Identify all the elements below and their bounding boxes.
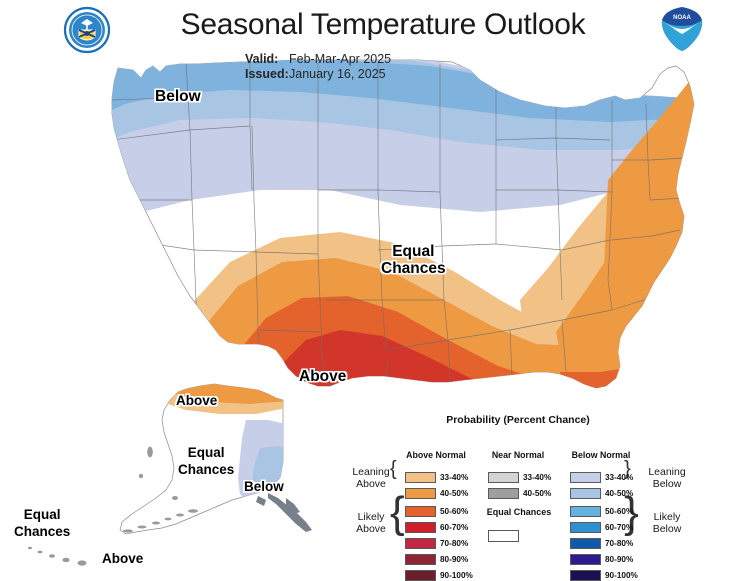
legend-label-above-40-50: 40-50% [440,488,468,499]
legend-swatch-above-50-60 [405,506,436,517]
legend-label-below-60-70: 60-70% [605,522,633,533]
legend-title: Probability (Percent Chance) [418,414,618,426]
legend-label-below-40-50: 40-50% [605,488,633,499]
legend-label-above-33-40: 33-40% [440,472,468,483]
svg-text:NOAA: NOAA [673,15,691,21]
legend-label-below-70-80: 70-80% [605,538,633,549]
legend-swatch-above-60-70 [405,522,436,533]
nws-logo-icon [63,6,111,54]
legend-note-likely-above: Likely Above [342,511,400,535]
map-label-equal-chances-conus: Equal Chances [381,243,446,277]
legend-label-below-80-90: 80-90% [605,554,633,565]
map-label-below-alaska: Below [244,478,284,495]
valid-issued-block: Valid:Feb-Mar-Apr 2025 Issued:January 16… [245,52,391,81]
legend-column-header-near-normal: Near Normal [487,450,549,460]
noaa-logo-icon: NOAA [657,4,707,54]
legend-note-leaning-below: Leaning Below [638,466,696,490]
legend-swatch-below-80-90 [570,554,601,565]
issued-label: Issued: [245,67,289,82]
valid-label: Valid: [245,52,289,67]
legend-label-above-60-70: 60-70% [440,522,468,533]
map-label-above-conus: Above [299,368,346,385]
legend-label-below-33-40: 33-40% [605,472,633,483]
valid-line: Valid:Feb-Mar-Apr 2025 [245,52,391,67]
legend-column-header-below-normal: Below Normal [570,450,632,460]
legend-label-near-40-50: 40-50% [523,488,551,499]
hawaii-inset [28,547,87,566]
legend-swatch-equal-chances [488,530,519,542]
issued-value: January 16, 2025 [289,67,386,81]
legend-equal-chances-label: Equal Chances [479,507,559,518]
legend-note-likely-below: Likely Below [638,511,696,535]
legend-swatch-below-70-80 [570,538,601,549]
legend-swatch-below-40-50 [570,488,601,499]
map-label-above-alaska: Above [176,392,217,409]
legend-swatch-above-40-50 [405,488,436,499]
alaska-panhandle-islands [256,493,312,532]
page-header: NOAA Seasonal Temperature Outlook Valid:… [0,0,743,86]
map-label-equal-chances-hawaii: Equal Chances [14,506,70,540]
legend-label-below-50-60: 50-60% [605,506,633,517]
map-label-equal-chances-alaska: Equal Chances [178,444,234,478]
legend-swatch-near-33-40 [488,472,519,483]
valid-value: Feb-Mar-Apr 2025 [289,52,391,66]
map-label-above-hawaii: Above [102,550,143,567]
issued-line: Issued:January 16, 2025 [245,67,391,82]
probability-legend: Probability (Percent Chance) Above Norma… [348,414,688,572]
legend-swatch-below-60-70 [570,522,601,533]
legend-note-leaning-above: Leaning Above [342,466,400,490]
legend-swatch-below-33-40 [570,472,601,483]
legend-swatch-above-70-80 [405,538,436,549]
legend-swatch-above-33-40 [405,472,436,483]
legend-swatch-below-50-60 [570,506,601,517]
legend-label-near-33-40: 33-40% [523,472,551,483]
page-title: Seasonal Temperature Outlook [118,8,648,42]
legend-column-header-above-normal: Above Normal [405,450,467,460]
legend-label-above-50-60: 50-60% [440,506,468,517]
legend-label-above-80-90: 80-90% [440,554,468,565]
map-label-below-conus: Below [155,88,201,105]
legend-swatch-near-40-50 [488,488,519,499]
legend-label-above-70-80: 70-80% [440,538,468,549]
legend-swatch-above-80-90 [405,554,436,565]
